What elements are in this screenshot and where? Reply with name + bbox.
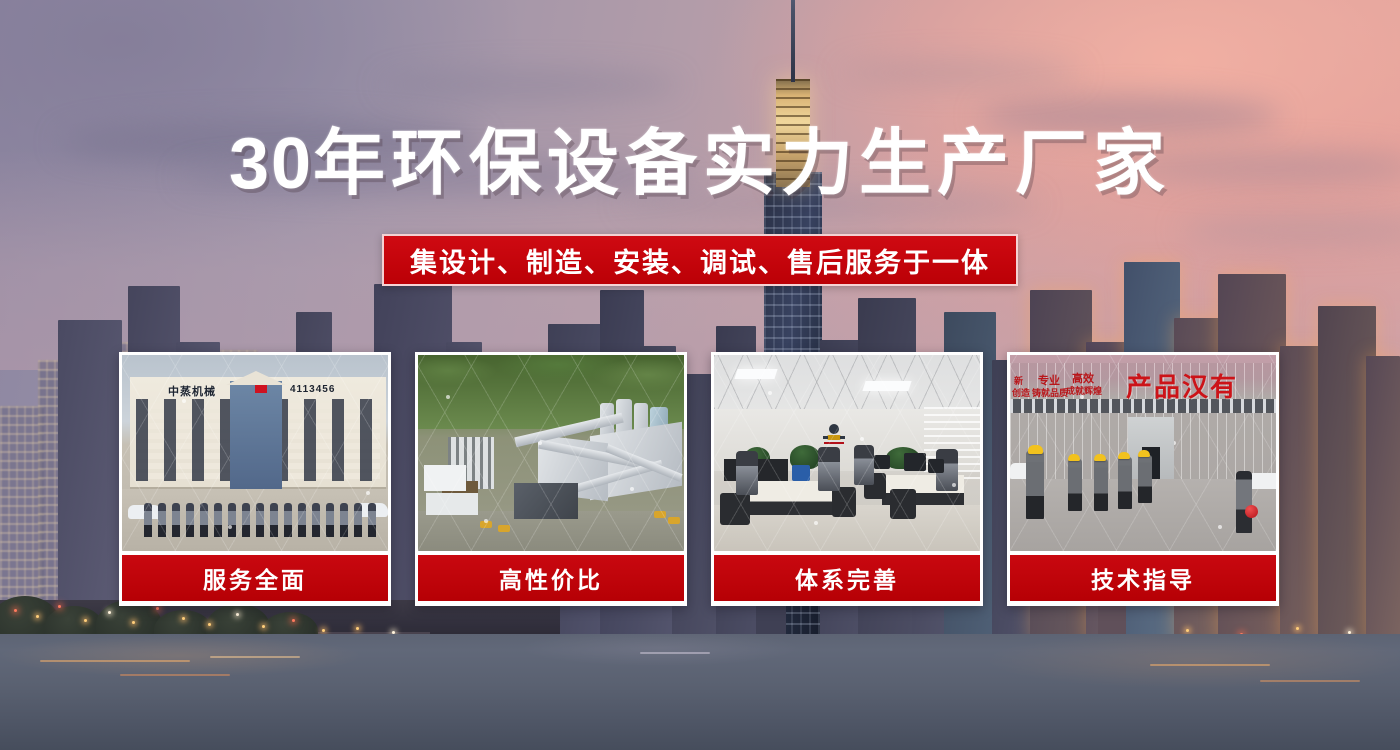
feature-card[interactable]: 中蒸机械 4113456 <box>119 352 391 606</box>
feature-card-caption: 高性价比 <box>418 555 684 601</box>
feature-card-list: 中蒸机械 4113456 <box>119 352 1279 606</box>
wall-slogan-sub: 创造 <box>1012 389 1030 399</box>
workshop-training-photo: 新 创造 专业 铸就品质 高效 成就辉煌 产品汉有 <box>1010 355 1276 551</box>
feature-card-caption-text: 技术指导 <box>1091 561 1195 595</box>
feature-card[interactable]: 新 创造 专业 铸就品质 高效 成就辉煌 产品汉有 <box>1007 352 1279 606</box>
feature-card-caption-text: 高性价比 <box>499 561 603 595</box>
feature-card-caption-text: 服务全面 <box>203 561 307 595</box>
building-phone-text: 4113456 <box>290 384 335 395</box>
building-sign-text: 中蒸机械 <box>168 383 216 399</box>
plant-aerial-photo <box>418 355 684 551</box>
headline-text: 年环保设备实力生产厂家 <box>313 124 1171 204</box>
feature-card[interactable]: 高性价比 <box>415 352 687 606</box>
promo-banner: 30年环保设备实力生产厂家 集设计、制造、安装、调试、售后服务于一体 中蒸机械 … <box>0 0 1400 750</box>
river-water <box>0 634 1400 750</box>
feature-card-caption: 服务全面 <box>122 555 388 601</box>
wall-slogan-text: 高效 <box>1072 373 1094 385</box>
banner-subtitle-bar: 集设计、制造、安装、调试、售后服务于一体 <box>382 234 1018 286</box>
banner-subtitle-text: 集设计、制造、安装、调试、售后服务于一体 <box>410 241 990 280</box>
feature-card-caption: 体系完善 <box>714 555 980 601</box>
wall-emblem <box>818 417 850 447</box>
wall-slogan-sub: 铸就品质 <box>1032 389 1068 399</box>
banner-headline: 30年环保设备实力生产厂家 <box>0 128 1400 200</box>
office-interior-photo <box>714 355 980 551</box>
wall-slogan-sub: 成就辉煌 <box>1066 387 1102 397</box>
feature-card[interactable]: 体系完善 <box>711 352 983 606</box>
headline-number: 30 <box>229 124 313 204</box>
tower-spire <box>791 0 795 82</box>
feature-card-caption: 技术指导 <box>1010 555 1276 601</box>
company-headquarters-photo: 中蒸机械 4113456 <box>122 355 388 551</box>
factory-wall-text: 产品汉有 <box>1126 367 1238 404</box>
wall-slogan-text: 专业 <box>1038 375 1060 387</box>
feature-card-caption-text: 体系完善 <box>795 561 899 595</box>
wall-slogan-text: 新 <box>1014 377 1023 387</box>
